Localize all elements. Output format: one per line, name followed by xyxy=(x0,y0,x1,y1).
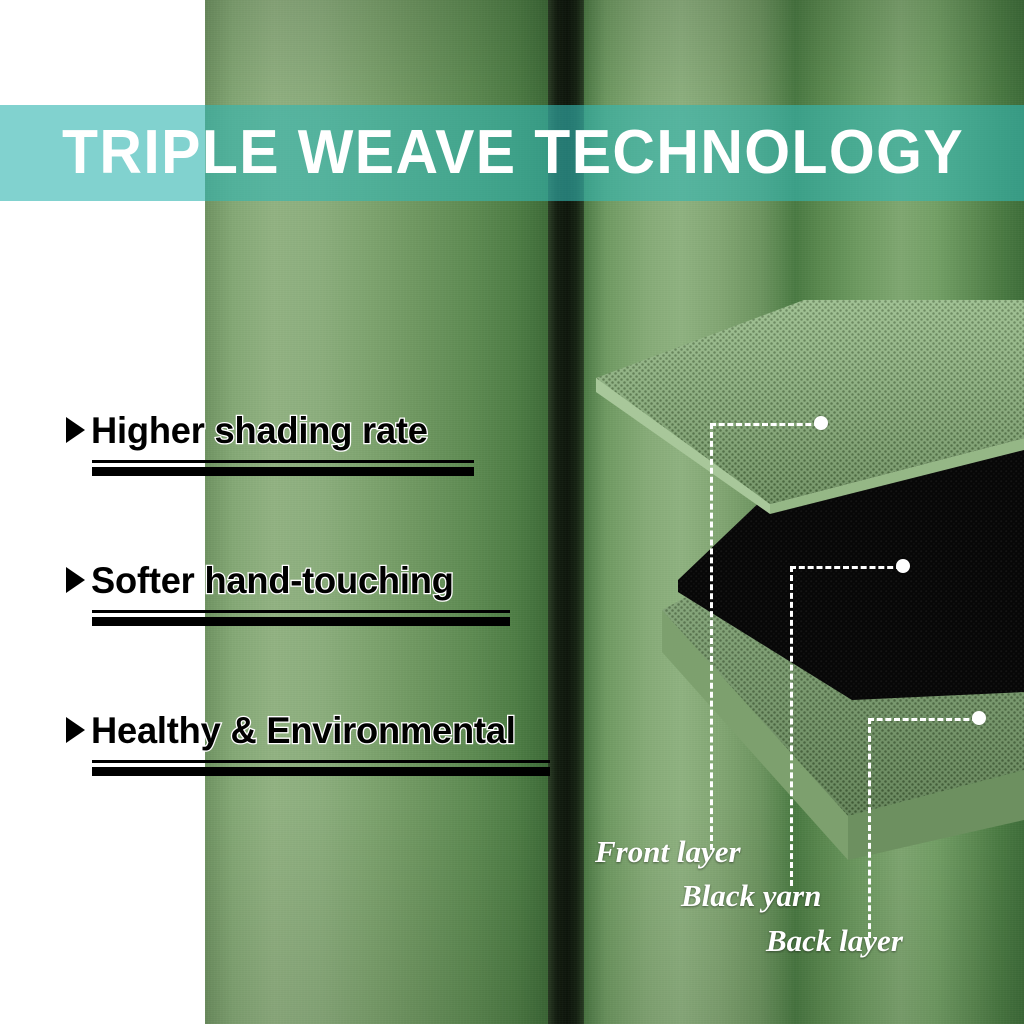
callout-yarn-dot xyxy=(896,559,910,573)
callout-front-line-vertical xyxy=(710,423,713,850)
feature-item-softer-hand-touching: Softer hand-touching xyxy=(66,562,510,626)
headline-banner: TRIPLE WEAVE TECHNOLOGY xyxy=(0,105,1024,201)
triple-weave-diagram xyxy=(590,300,1024,860)
triangle-right-icon xyxy=(66,417,85,443)
feature-underline xyxy=(92,610,510,626)
fabric-layers-illustration xyxy=(590,300,1024,860)
callout-back-line-horizontal xyxy=(868,718,978,721)
callout-yarn-line-horizontal xyxy=(790,566,902,569)
underline-thick xyxy=(92,767,550,776)
callout-front-line-horizontal xyxy=(710,423,820,426)
headline-text: TRIPLE WEAVE TECHNOLOGY xyxy=(62,122,964,184)
triangle-right-icon xyxy=(66,567,85,593)
callout-front-dot xyxy=(814,416,828,430)
infographic-canvas: Front layer Black yarn Back layer Higher… xyxy=(0,0,1024,1024)
underline-thick xyxy=(92,617,510,626)
feature-underline xyxy=(92,760,550,776)
label-back-layer: Back layer xyxy=(766,925,903,956)
triangle-right-icon xyxy=(66,717,85,743)
feature-item-healthy-environmental: Healthy & Environmental xyxy=(66,712,550,776)
underline-thick xyxy=(92,467,474,476)
label-black-yarn: Black yarn xyxy=(681,880,821,911)
feature-item-higher-shading-rate: Higher shading rate xyxy=(66,412,474,476)
label-front-layer: Front layer xyxy=(595,836,741,867)
callout-yarn-line-vertical xyxy=(790,566,793,886)
feature-underline xyxy=(92,460,474,476)
callout-back-line-vertical xyxy=(868,718,871,938)
feature-label: Higher shading rate xyxy=(91,412,428,449)
feature-label: Healthy & Environmental xyxy=(91,712,516,749)
feature-label: Softer hand-touching xyxy=(91,562,454,599)
callout-back-dot xyxy=(972,711,986,725)
